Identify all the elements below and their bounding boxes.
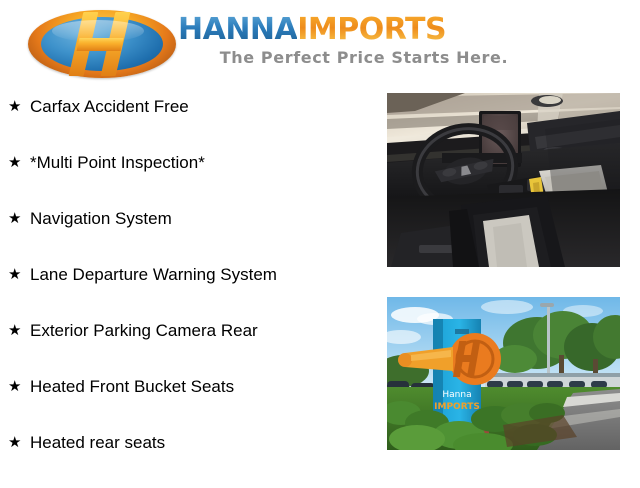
star-bullet-icon: ★ (6, 264, 30, 286)
feature-label: Navigation System (30, 208, 378, 230)
list-item: ★ Lane Departure Warning System (6, 264, 378, 320)
feature-label: Heated rear seats (30, 432, 378, 454)
vehicle-feature-list: ★ Carfax Accident Free ★ *Multi Point In… (6, 96, 378, 488)
dealership-sign-image: Hanna IMPORTS (387, 297, 620, 450)
wordmark-imports: IMPORTS (297, 12, 446, 47)
list-item: ★ *Multi Point Inspection* (6, 152, 378, 208)
feature-label: *Multi Point Inspection* (30, 152, 378, 174)
vehicle-interior-photo[interactable] (387, 93, 620, 267)
feature-label: Exterior Parking Camera Rear (30, 320, 378, 342)
star-bullet-icon: ★ (6, 432, 30, 454)
list-item: ★ Carfax Accident Free (6, 96, 378, 152)
star-bullet-icon: ★ (6, 96, 30, 118)
star-bullet-icon: ★ (6, 376, 30, 398)
brand-text-block: HANNAIMPORTS The Perfect Price Starts He… (178, 14, 608, 67)
star-bullet-icon: ★ (6, 152, 30, 174)
list-item: ★ Heated Front Bucket Seats (6, 376, 378, 432)
sign-text-hanna: Hanna (442, 390, 471, 400)
feature-label: Lane Departure Warning System (30, 264, 378, 286)
list-item: ★ Exterior Parking Camera Rear (6, 320, 378, 376)
star-bullet-icon: ★ (6, 208, 30, 230)
logo-monogram-crossbar (76, 38, 123, 51)
feature-label: Carfax Accident Free (30, 96, 378, 118)
list-item: ★ Navigation System (6, 208, 378, 264)
brand-wordmark: HANNAIMPORTS (178, 14, 608, 46)
vehicle-interior-image (387, 93, 620, 267)
header-banner: HANNAIMPORTS The Perfect Price Starts He… (0, 0, 640, 88)
hanna-imports-oval-logo (28, 10, 176, 78)
dealership-sign-photo[interactable]: Hanna IMPORTS (387, 297, 620, 450)
star-bullet-icon: ★ (6, 320, 30, 342)
feature-label: Heated Front Bucket Seats (30, 376, 378, 398)
brand-tagline: The Perfect Price Starts Here. (200, 48, 528, 67)
wordmark-hanna: HANNA (178, 12, 297, 47)
sign-text-imports: IMPORTS (434, 402, 480, 412)
